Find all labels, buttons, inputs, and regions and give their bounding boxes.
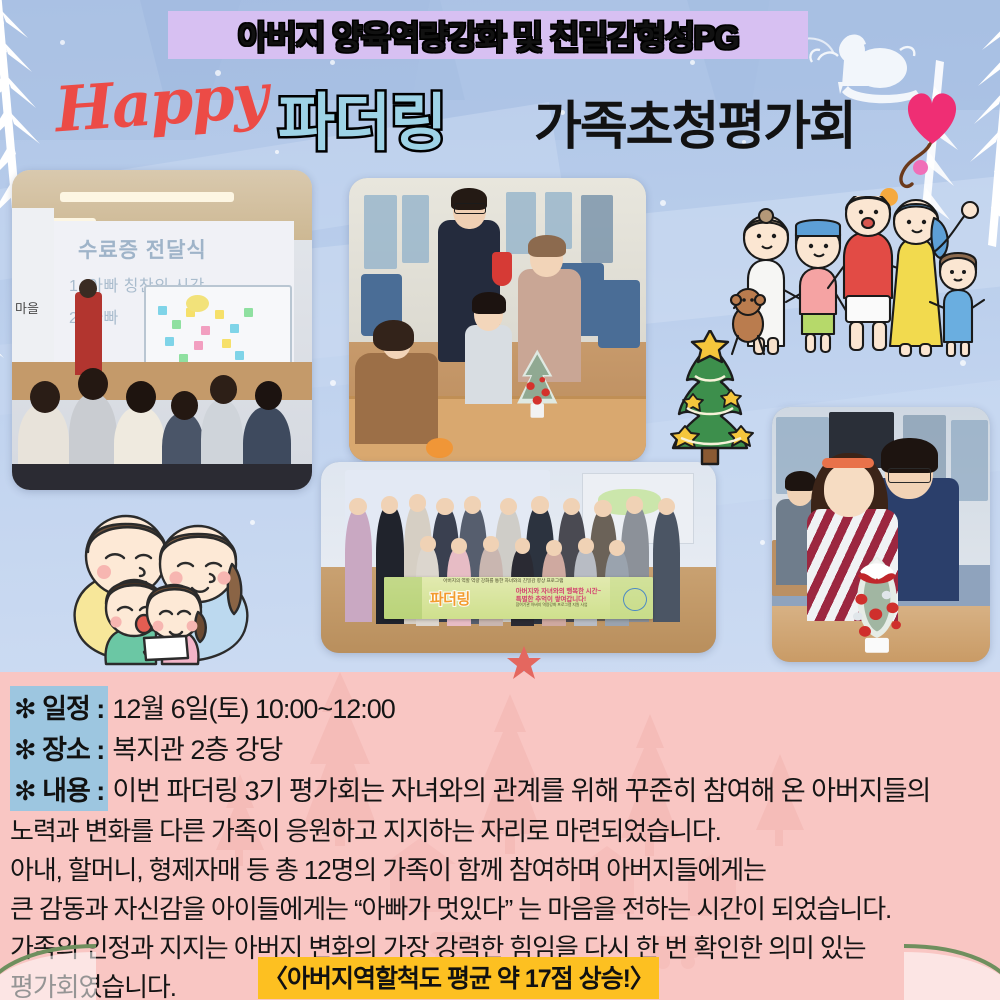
result-highlight-badge: 〈아버지역할척도 평균 약 17점 상승!〉	[258, 957, 659, 999]
heart-balloon-icon	[894, 82, 972, 200]
star-icon	[506, 645, 542, 681]
info-row-schedule: ✻ 일정 :12월 6일(토) 10:00~12:00	[10, 686, 395, 729]
photo-group-with-banner: 아버지의 역할 역량 강화를 통한 자녀와의 친밀감 향상 프로그램 파더링 아…	[321, 462, 716, 653]
label-content: ✻ 내용 :	[10, 768, 108, 811]
info-row-place: ✻ 장소 :복지관 2층 강당	[10, 727, 282, 770]
photo1-side-text: 마을	[15, 298, 39, 317]
happy-word: Happy	[53, 59, 269, 147]
confetti-dot	[880, 188, 898, 206]
event-title: 가족초청평가회	[534, 84, 855, 159]
content-line-3: 큰 감동과 자신감을 아이들에게는 “아빠가 멋있다” 는 마음을 전하는 시간…	[10, 889, 891, 926]
content-line-2: 아내, 할머니, 형제자매 등 총 12명의 가족이 함께 참여하며 아버지들에…	[10, 850, 766, 887]
content-line-1: 노력과 변화를 다른 가족이 응원하고 지지하는 자리로 마련되었습니다.	[10, 811, 721, 848]
event-banner: 아버지의 역할 역량 강화를 통한 자녀와의 친밀감 향상 프로그램 파더링 아…	[384, 577, 653, 619]
program-name-title: 파더링	[278, 72, 446, 162]
photo-christmas-tree-craft	[349, 178, 646, 461]
poster-subtitle: 아버지 양육역량강화 및 친밀감형성PG	[168, 11, 808, 59]
decorated-christmas-tree-icon	[829, 550, 925, 657]
value-place: 복지관 2층 강당	[112, 728, 282, 767]
photo-seminar-certificate-ceremony: 마을 수료증 전달식 1. 아빠 칭찬의 시간 2. 아빠	[12, 170, 312, 490]
value-content: 이번 파더링 3기 평가회는 자녀와의 관계를 위해 꾸준히 참여해 온 아버지…	[112, 769, 930, 808]
confetti-dot	[913, 160, 928, 175]
banner-right-line3: 참여기관 아버지 역량강화 프로그램 지원 사업	[516, 603, 588, 608]
photo-father-and-daughter	[772, 407, 990, 662]
photo1-screen-title: 수료증 전달식	[78, 234, 207, 264]
banner-top-text: 아버지의 역할 역량 강화를 통한 자녀와의 친밀감 향상 프로그램	[443, 578, 563, 584]
banner-title: 파더링	[430, 588, 470, 609]
value-schedule: 12월 6일(토) 10:00~12:00	[112, 687, 394, 726]
info-row-content: ✻ 내용 :이번 파더링 3기 평가회는 자녀와의 관계를 위해 꾸준히 참여해…	[10, 768, 930, 811]
craft-tree-icon	[512, 348, 562, 427]
poster-root: 아버지 양육역량강화 및 친밀감형성PG Happy 파더링 가족초청평가회 마…	[0, 0, 1000, 1000]
label-place: ✻ 장소 :	[10, 727, 108, 770]
label-schedule: ✻ 일정 :	[10, 686, 108, 729]
